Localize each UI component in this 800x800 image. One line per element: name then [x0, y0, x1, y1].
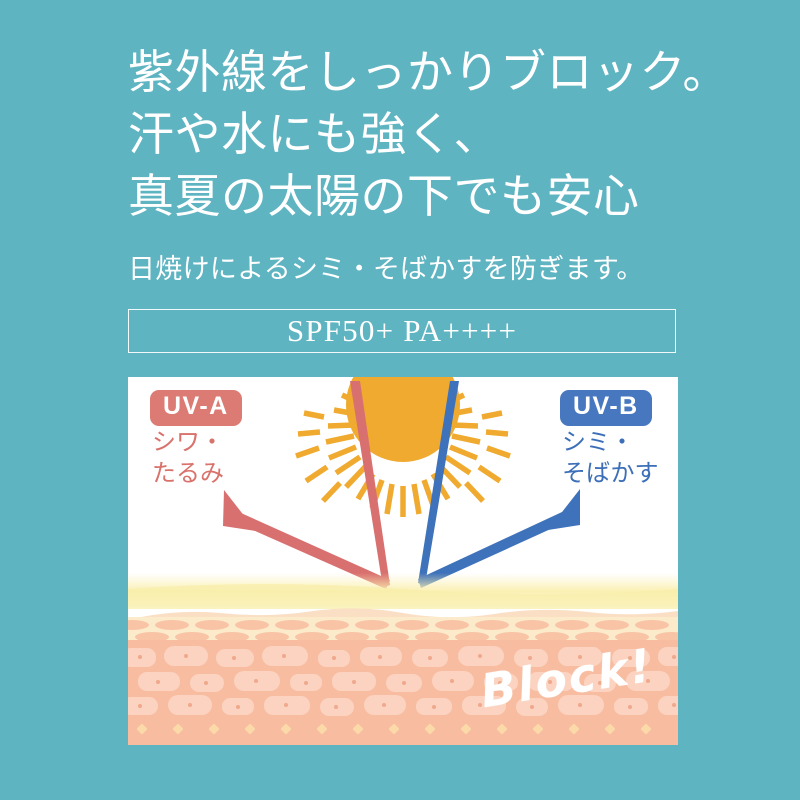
spf-rating-text: SPF50+ PA++++: [287, 313, 517, 349]
skin-surface-glow: [128, 573, 678, 609]
uv-b-badge: UV-B: [560, 390, 652, 426]
uv-b-caption-line-2: そばかす: [562, 458, 658, 489]
page-title: 紫外線をしっかりブロック。 汗や水にも強く、 真夏の太陽の下でも安心: [128, 42, 688, 228]
uv-a-badge: UV-A: [150, 390, 242, 426]
headline-line-2: 汗や水にも強く、: [128, 104, 688, 166]
headline-line-1: 紫外線をしっかりブロック。: [128, 42, 688, 104]
uv-a-caption: シワ・ たるみ: [152, 427, 224, 489]
uv-a-caption-line-1: シワ・: [152, 427, 224, 458]
uv-a-caption-line-2: たるみ: [152, 458, 224, 489]
dermis-dot-row: [136, 723, 651, 734]
uv-b-caption: シミ・ そばかす: [562, 427, 658, 489]
sun-icon: [296, 377, 510, 517]
spf-rating-box: SPF50+ PA++++: [128, 309, 676, 353]
skin-granular-layer: [128, 617, 678, 643]
poster-root: 紫外線をしっかりブロック。 汗や水にも強く、 真夏の太陽の下でも安心 日焼けによ…: [0, 0, 800, 800]
headline-line-3: 真夏の太陽の下でも安心: [128, 166, 688, 228]
uv-b-caption-line-1: シミ・: [562, 427, 658, 458]
uv-illustration-panel: UV-A シワ・ たるみ UV-B シミ・ そばかす Block!: [128, 377, 678, 745]
subheading: 日焼けによるシミ・そばかすを防ぎます。: [128, 252, 688, 286]
